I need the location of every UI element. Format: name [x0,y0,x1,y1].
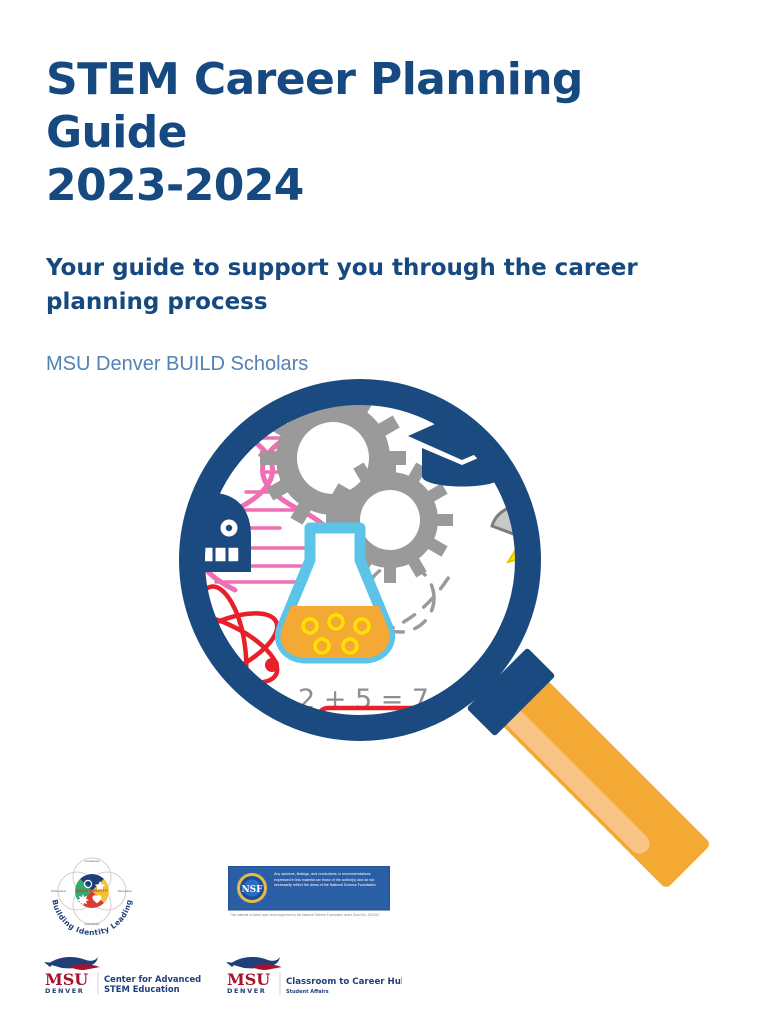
blob-label-na: Na [622,620,643,636]
build-quadrant-0: Competence [85,859,100,863]
molecule-blob-icon: H2O Cl Na N Fe [547,547,710,698]
case-line-1: Center for Advanced [104,974,201,984]
svg-text:Commitment: Commitment [85,922,100,926]
c2hub-line-2: Student Affairs [286,989,329,995]
svg-text:Competence: Competence [85,859,100,863]
blob-label-fe: Fe [655,641,672,656]
svg-text:Recognition: Recognition [118,889,132,893]
roadrunner-icon [44,957,100,970]
build-quadrant-1: Recognition [118,889,132,893]
svg-text:BUILD IDENTITY: BUILD IDENTITY [77,889,108,893]
build-quadrant-3: Commitment [85,922,100,926]
page-subtitle: Your guide to support you through the ca… [46,212,716,319]
build-scholars-logo: Competence Performance Recognition Commi… [40,845,144,941]
blob-label-n: N [590,654,601,669]
build-quadrant-2: Performance [51,889,66,893]
nsf-mark: NSF [241,885,263,895]
roadrunner-icon [226,957,282,970]
denver-wordmark: DENVER [45,987,84,995]
amoeba-icon [406,809,462,872]
page-title: STEM Career Planning Guide 2023-2024 [46,54,726,212]
svg-text:Performance: Performance [51,889,66,893]
nsf-disclaimer-text: Any opinions, findings, and conclusions … [274,872,386,889]
lightning-bolt-icon [262,742,306,804]
magnifier-handle [466,647,711,889]
magnifying-glass-illustration: H2O Cl Na N Fe [150,360,768,900]
blob-label-h2o: H2O [639,568,675,586]
build-center-text: BUILD IDENTITY [77,889,108,893]
nsf-grant-note: This material is based upon work support… [230,913,388,917]
case-line-2: STEM Education [104,984,180,994]
cover-header: STEM Career Planning Guide 2023-2024 You… [46,54,726,377]
msu-denver-c2hub-logo: MSU DENVER Classroom to Career Hub Stude… [222,952,402,998]
blob-label-cl: Cl [588,588,603,604]
msu-denver-case-logo: MSU DENVER Center for Advanced STEM Educ… [40,952,215,998]
c2hub-line-1: Classroom to Career Hub [286,977,402,987]
denver-wordmark: DENVER [227,987,266,995]
nsf-disclaimer-block: NSF Any opinions, findings, and conclusi… [228,866,390,924]
